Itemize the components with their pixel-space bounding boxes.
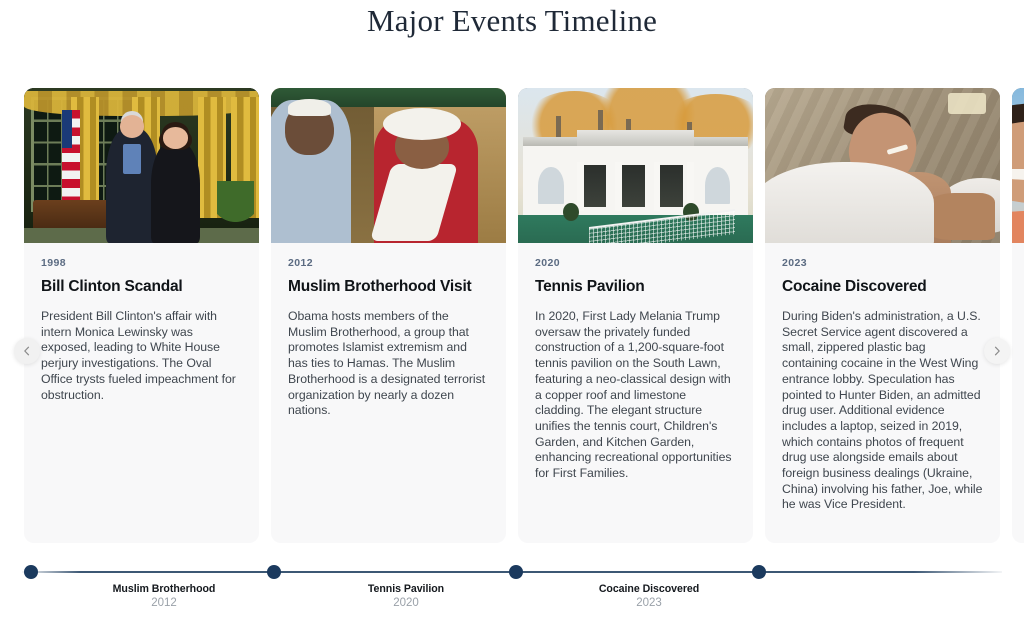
event-card-body: 2012 Muslim Brotherhood Visit Obama host… [271, 243, 506, 437]
event-card[interactable]: 1998 Bill Clinton Scandal President Bill… [24, 88, 259, 543]
timeline-node-year: 1998 [0, 597, 31, 609]
timeline-node-year: 2020 [296, 597, 516, 609]
timeline-node-label: Cocaine Discovered [539, 583, 759, 595]
timeline-node-label: Muslim Brotherhood [54, 583, 274, 595]
event-photo-cocaine-discovered [765, 88, 1000, 243]
event-year: 2020 [535, 257, 736, 269]
event-card[interactable]: 2020 Tennis Pavilion In 2020, First Lady… [518, 88, 753, 543]
event-title: Bill Clinton Scandal [41, 277, 242, 297]
timeline-dot[interactable] [509, 565, 523, 579]
event-card-body: 1998 Bill Clinton Scandal President Bill… [24, 243, 259, 421]
event-title: Muslim Brotherhood Visit [288, 277, 489, 297]
event-photo-tennis-pavilion [518, 88, 753, 243]
timeline-page: Major Events Timeline [0, 0, 1024, 628]
event-year: 1998 [41, 257, 242, 269]
event-description: Obama hosts members of the Muslim Brothe… [288, 309, 489, 419]
event-card[interactable]: 2012 Muslim Brotherhood Visit Obama host… [271, 88, 506, 543]
timeline-node-year: 2023 [539, 597, 759, 609]
previous-slide-button[interactable] [14, 338, 40, 364]
timeline-axis: Clinton Scandal 1998 Muslim Brotherhood … [0, 555, 1024, 628]
event-photo-muslim-brotherhood-visit [271, 88, 506, 243]
timeline-node-label: Tennis Pavilion [296, 583, 516, 595]
event-title: Tennis Pavilion [535, 277, 736, 297]
timeline-node-year: 2012 [54, 597, 274, 609]
event-card-body [1012, 243, 1024, 287]
event-card-body: 2020 Tennis Pavilion In 2020, First Lady… [518, 243, 753, 500]
event-description: During Biden's administration, a U.S. Se… [782, 309, 983, 513]
event-title: Cocaine Discovered [782, 277, 983, 297]
event-card[interactable] [1012, 88, 1024, 543]
chevron-left-icon [22, 346, 32, 356]
timeline-node-label: Clinton Scandal [0, 583, 31, 595]
page-title: Major Events Timeline [0, 2, 1024, 40]
chevron-right-icon [992, 346, 1002, 356]
events-carousel[interactable]: 1998 Bill Clinton Scandal President Bill… [0, 88, 1024, 553]
timeline-dot[interactable] [267, 565, 281, 579]
event-card[interactable]: 2023 Cocaine Discovered During Biden's a… [765, 88, 1000, 543]
event-photo-clinton-scandal [24, 88, 259, 243]
event-photo-next-preview [1012, 88, 1024, 243]
timeline-dot[interactable] [24, 565, 38, 579]
timeline-dot[interactable] [752, 565, 766, 579]
event-description: In 2020, First Lady Melania Trump oversa… [535, 309, 736, 482]
event-card-body: 2023 Cocaine Discovered During Biden's a… [765, 243, 1000, 531]
carousel-track: 1998 Bill Clinton Scandal President Bill… [24, 88, 1024, 543]
next-slide-button[interactable] [984, 338, 1010, 364]
event-year: 2012 [288, 257, 489, 269]
event-year: 2023 [782, 257, 983, 269]
event-description: President Bill Clinton's affair with int… [41, 309, 242, 403]
